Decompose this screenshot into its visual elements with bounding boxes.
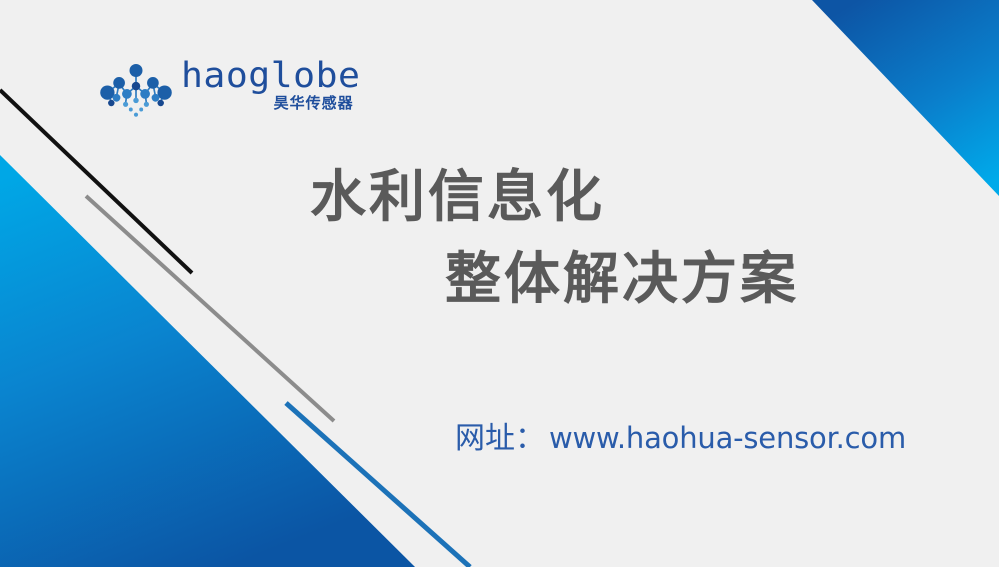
title-line-1: 水利信息化 [310, 162, 910, 234]
website-line: 网址： www.haohua-sensor.com [455, 420, 906, 457]
slide-title: 水利信息化 整体解决方案 [310, 162, 910, 316]
website-label: 网址： [455, 421, 545, 457]
logo-subtitle-chinese: 昊华传感器 [274, 95, 354, 112]
network-nodes-logo-icon [97, 60, 175, 120]
website-url[interactable]: www.haohua-sensor.com [549, 420, 906, 456]
title-line-2: 整体解决方案 [445, 244, 910, 316]
logo-wordmark: haoglobe [181, 58, 360, 94]
presentation-slide: haoglobe 昊华传感器 水利信息化 整体解决方案 网址： www.haoh… [0, 0, 999, 567]
company-logo: haoglobe 昊华传感器 [97, 56, 327, 126]
logo-text-group: haoglobe 昊华传感器 [181, 56, 354, 112]
